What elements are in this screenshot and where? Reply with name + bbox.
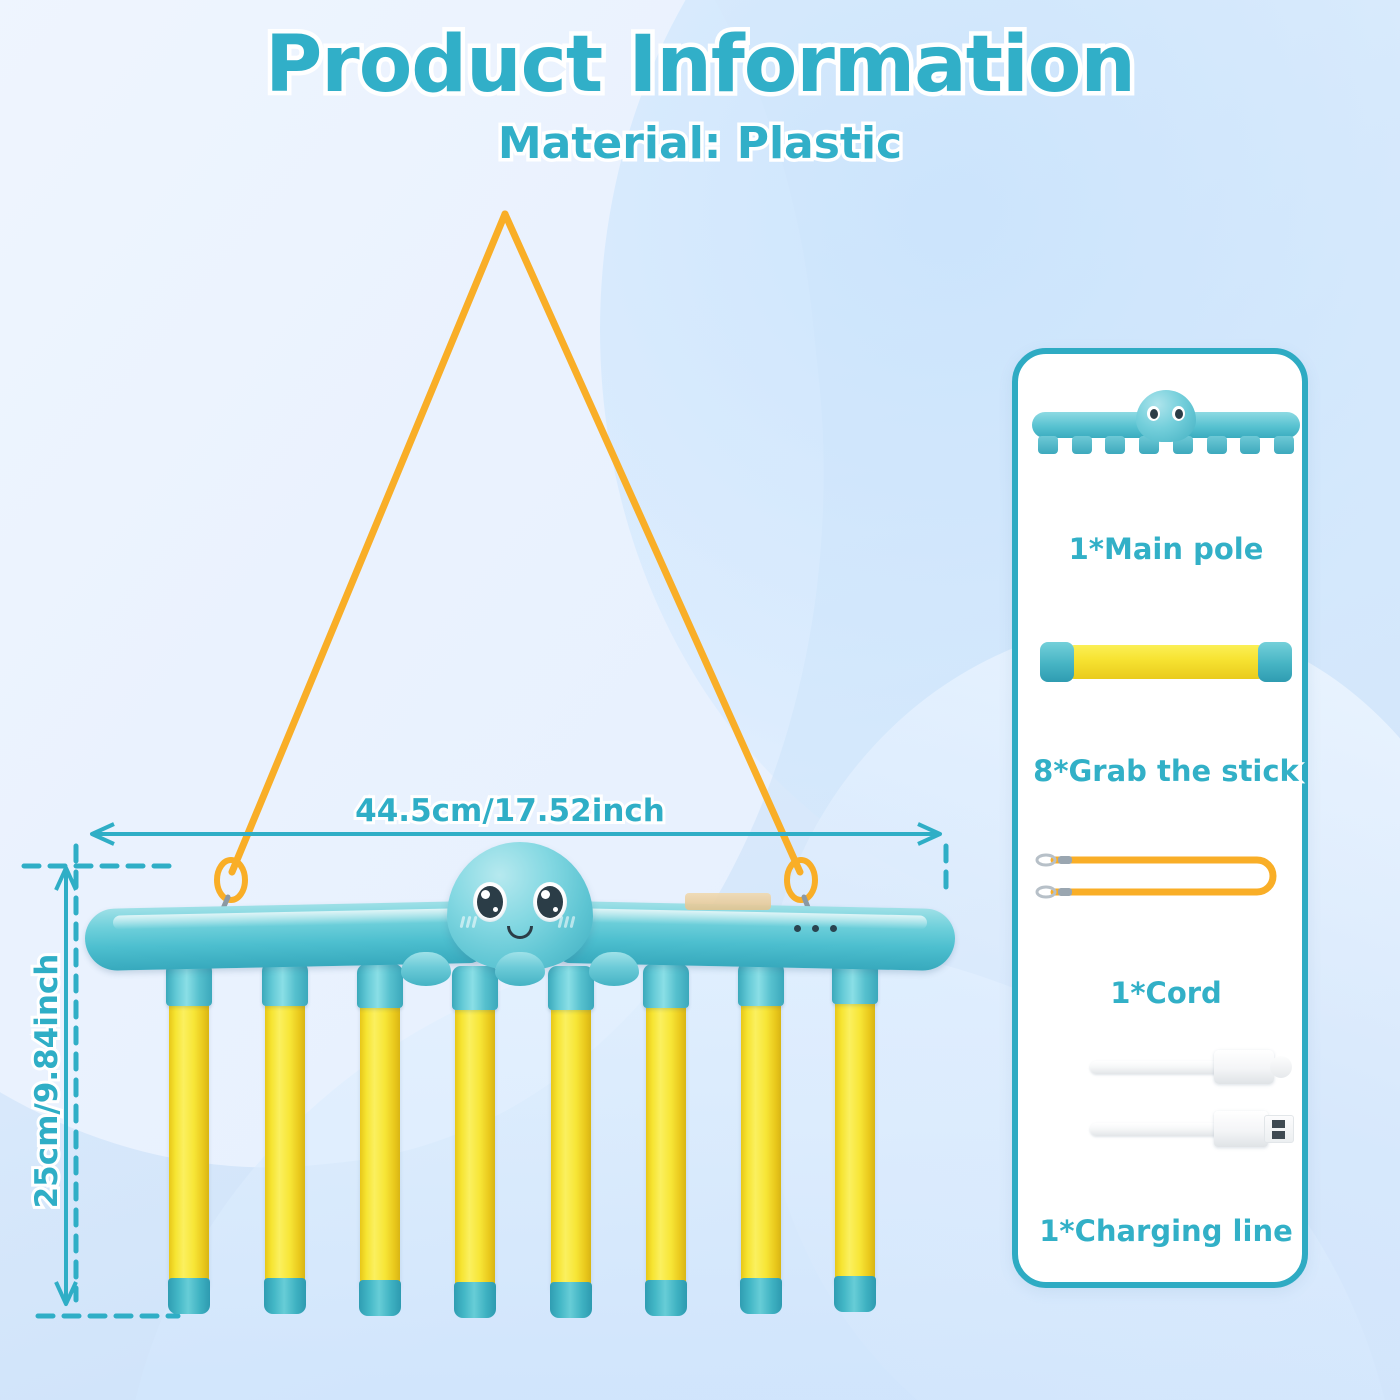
- octopus-sucker: [401, 952, 451, 986]
- stick-tip: [740, 1278, 782, 1314]
- speaker-holes-icon: [794, 925, 837, 932]
- stick-shaft: [741, 988, 781, 1288]
- usb-c-shell: [1214, 1050, 1274, 1084]
- orange-cord-icon: [1032, 846, 1300, 906]
- cable-wire: [1090, 1061, 1220, 1074]
- stick-shaft: [169, 988, 209, 1288]
- parts-list-panel: 1*Main pole 8*Grab the stick 1*Cord: [1012, 348, 1308, 1288]
- yellow-stick-icon: [1040, 642, 1292, 682]
- octopus-sucker: [589, 952, 639, 986]
- stick-shaft: [455, 992, 495, 1292]
- stick-shaft: [360, 990, 400, 1290]
- usb-a-connector: [1032, 1106, 1300, 1152]
- octopus-blush-left: [461, 916, 481, 928]
- stick-tip: [264, 1278, 306, 1314]
- stick-shaft: [646, 990, 686, 1290]
- panel-item-label-grab-stick: 8*Grab the stick: [1018, 754, 1314, 788]
- mini-eye-left: [1147, 406, 1160, 421]
- usb-a-tip: [1264, 1115, 1294, 1143]
- usb-c-connector: [1032, 1044, 1300, 1090]
- stick-shaft: [265, 988, 305, 1288]
- panel-item-label-charging-line: 1*Charging line: [1018, 1214, 1314, 1248]
- stick-tip: [359, 1280, 401, 1316]
- usb-a-shell: [1214, 1111, 1268, 1147]
- mini-octopus-head: [1136, 390, 1196, 442]
- main-pole-bar: [85, 905, 955, 971]
- stick-cap: [452, 966, 498, 1010]
- stick-tip: [550, 1282, 592, 1318]
- cable-wire: [1090, 1123, 1220, 1136]
- mini-eye-right: [1172, 406, 1185, 421]
- octopus-head: [447, 842, 593, 970]
- usb-charging-cable-icon: [1032, 1044, 1300, 1174]
- stick-shaft: [551, 992, 591, 1292]
- stick-shaft: [835, 986, 875, 1286]
- infographic-canvas: Product Information Material: Plastic: [0, 0, 1400, 1400]
- stick-end-right: [1258, 642, 1292, 682]
- octopus-pupil-left: [477, 886, 503, 918]
- octopus-mouth: [507, 926, 533, 939]
- stick-tip: [454, 1282, 496, 1318]
- product-illustration: [0, 0, 1000, 1400]
- octopus-pupil-right: [537, 886, 563, 918]
- stick-tip: [834, 1276, 876, 1312]
- stick-tip: [168, 1278, 210, 1314]
- stick-cap: [548, 966, 594, 1010]
- stick-end-left: [1040, 642, 1074, 682]
- stick-body: [1070, 645, 1262, 679]
- panel-item-label-cord: 1*Cord: [1018, 976, 1314, 1010]
- stick-tip: [645, 1280, 687, 1316]
- octopus-main-pole-icon: [1032, 390, 1300, 454]
- panel-item-label-main-pole: 1*Main pole: [1018, 532, 1314, 566]
- octopus-blush-right: [559, 916, 579, 928]
- pole-label-plate: [685, 893, 771, 910]
- octopus-sucker: [495, 952, 545, 986]
- usb-c-tip: [1270, 1056, 1292, 1078]
